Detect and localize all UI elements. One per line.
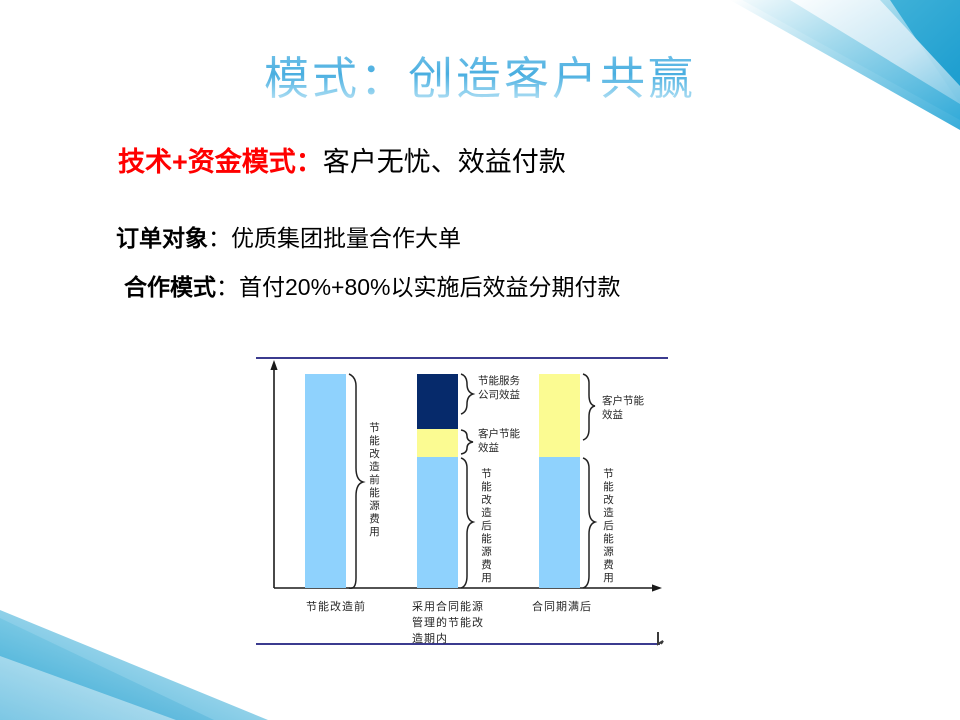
x-tick-label-during: 采用合同能源 管理的节能改 造期内 xyxy=(412,599,489,645)
bar-segment-energy-cost-after-during xyxy=(417,457,458,588)
bar-group-during-contract: 节能服务 公司效益 客户节能 效益 节能改造后能源费用 xyxy=(417,374,523,588)
svg-text:采用合同能源 管理的节能改: 采用合同能源 管理的节能改 造期内 xyxy=(412,599,489,645)
bar-segment-customer-benefit-during xyxy=(417,429,458,457)
brace-esco-benefit xyxy=(461,374,473,414)
brace-energy-cost-after-contract xyxy=(583,458,595,588)
bar-segment-customer-benefit-after xyxy=(539,374,580,457)
bar-segment-esco-benefit xyxy=(417,374,458,429)
emc-benefit-chart: 节能改造前能源费用 节能服务 公司效益 客户节能 效益 xyxy=(252,344,672,660)
headline-emphasis: 技术+资金模式： xyxy=(118,147,323,177)
headline-row: 技术+资金模式：客户无忧、效益付款 xyxy=(118,146,566,180)
pointer-marker-icon xyxy=(658,632,663,644)
brace-label-energy-cost-after-contract: 节能改造后能源费用 xyxy=(602,468,614,585)
bullet-row-cooperation-mode: 合作模式：首付20%+80%以实施后效益分期付款 xyxy=(124,273,621,303)
brace-customer-benefit-during xyxy=(461,430,473,454)
x-tick-label-before: 节能改造前 xyxy=(306,599,366,613)
slide-canvas: 模式：创造客户共赢 技术+资金模式：客户无忧、效益付款 订单对象：优质集团批量合… xyxy=(0,0,960,720)
slide-title-container: 模式：创造客户共赢 xyxy=(0,54,960,104)
bullet-row-order-target: 订单对象：优质集团批量合作大单 xyxy=(116,224,461,254)
corner-decoration-bottom-left xyxy=(0,610,270,720)
bar-group-after-contract: 客户节能 效益 节能改造后能源费用 xyxy=(539,374,647,588)
brace-label-energy-cost-after-during: 节能改造后能源费用 xyxy=(480,468,492,585)
x-tick-label-after: 合同期满后 xyxy=(532,599,592,613)
bar-segment-energy-cost-before xyxy=(305,374,346,588)
bar-group-before-retrofit: 节能改造前能源费用 xyxy=(305,374,380,588)
brace-customer-benefit-after xyxy=(583,374,595,440)
brace-label-customer-benefit-after: 客户节能 效益 xyxy=(602,394,647,421)
bullet-text-1: 优质集团批量合作大单 xyxy=(231,225,461,251)
bar-segment-energy-cost-after-contract xyxy=(539,457,580,588)
bullet-text-2: 首付20%+80%以实施后效益分期付款 xyxy=(239,274,621,300)
bullet-sep-1: ： xyxy=(208,225,231,251)
brace-label-esco-benefit: 节能服务 公司效益 xyxy=(478,374,523,401)
headline-rest: 客户无忧、效益付款 xyxy=(323,147,566,177)
bullet-lead-2: 合作模式 xyxy=(124,274,216,300)
brace-label-customer-benefit-during: 客户节能 效益 xyxy=(478,427,523,454)
brace-before-retrofit xyxy=(349,374,363,588)
page-title: 模式：创造客户共赢 xyxy=(264,54,696,104)
brace-energy-cost-after-during xyxy=(461,458,473,588)
bullet-lead-1: 订单对象 xyxy=(116,225,208,251)
bullet-sep-2: ： xyxy=(216,274,239,300)
chart-svg: 节能改造前能源费用 节能服务 公司效益 客户节能 效益 xyxy=(252,344,672,660)
brace-label-energy-cost-before: 节能改造前能源费用 xyxy=(368,422,380,539)
y-axis xyxy=(270,360,277,588)
